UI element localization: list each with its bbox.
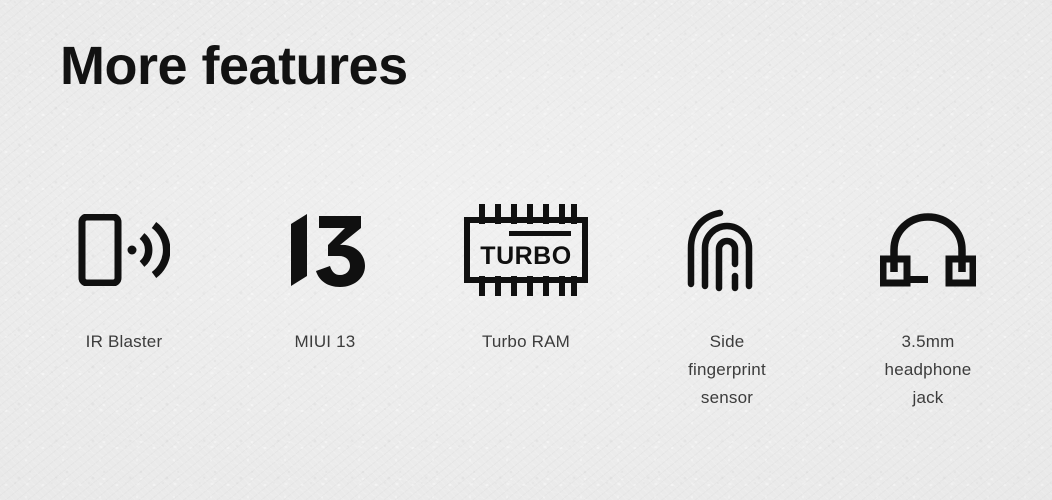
feature-icon-wrapper: [78, 200, 170, 300]
label-line: jack: [885, 384, 972, 412]
feature-item-miui-13[interactable]: MIUI 13: [225, 200, 425, 356]
feature-item-ir-blaster[interactable]: IR Blaster: [24, 200, 224, 356]
label-line: Turbo RAM: [482, 328, 570, 356]
label-line: IR Blaster: [86, 328, 163, 356]
feature-label-turbo-ram: Turbo RAM: [482, 328, 570, 356]
feature-icon-wrapper: [880, 200, 976, 300]
turbo-ram-chip-icon: TURBO: [461, 200, 591, 300]
features-section: More features IR Blaster: [0, 0, 1052, 500]
label-line: fingerprint: [688, 356, 766, 384]
fingerprint-icon: [685, 208, 769, 292]
turbo-chip-text: TURBO: [480, 242, 571, 270]
label-line: Side: [688, 328, 766, 356]
feature-label-headphone-jack: 3.5mm headphone jack: [885, 328, 972, 412]
label-line: MIUI 13: [295, 328, 356, 356]
feature-label-ir-blaster: IR Blaster: [86, 328, 163, 356]
headphone-icon: [880, 212, 976, 288]
feature-icon-wrapper: TURBO: [461, 200, 591, 300]
feature-label-miui-13: MIUI 13: [295, 328, 356, 356]
label-line: 3.5mm: [885, 328, 972, 356]
label-line: headphone: [885, 356, 972, 384]
feature-item-headphone-jack[interactable]: 3.5mm headphone jack: [828, 200, 1028, 412]
feature-item-turbo-ram[interactable]: TURBO Turbo RAM: [426, 200, 626, 356]
miui-13-icon: [283, 212, 367, 288]
feature-label-fingerprint: Side fingerprint sensor: [688, 328, 766, 412]
features-row: IR Blaster MIUI 13: [24, 200, 1028, 412]
ir-blaster-icon: [78, 214, 170, 286]
feature-item-fingerprint[interactable]: Side fingerprint sensor: [627, 200, 827, 412]
page-title: More features: [60, 37, 408, 96]
feature-icon-wrapper: [685, 200, 769, 300]
label-line: sensor: [688, 384, 766, 412]
feature-icon-wrapper: [283, 200, 367, 300]
